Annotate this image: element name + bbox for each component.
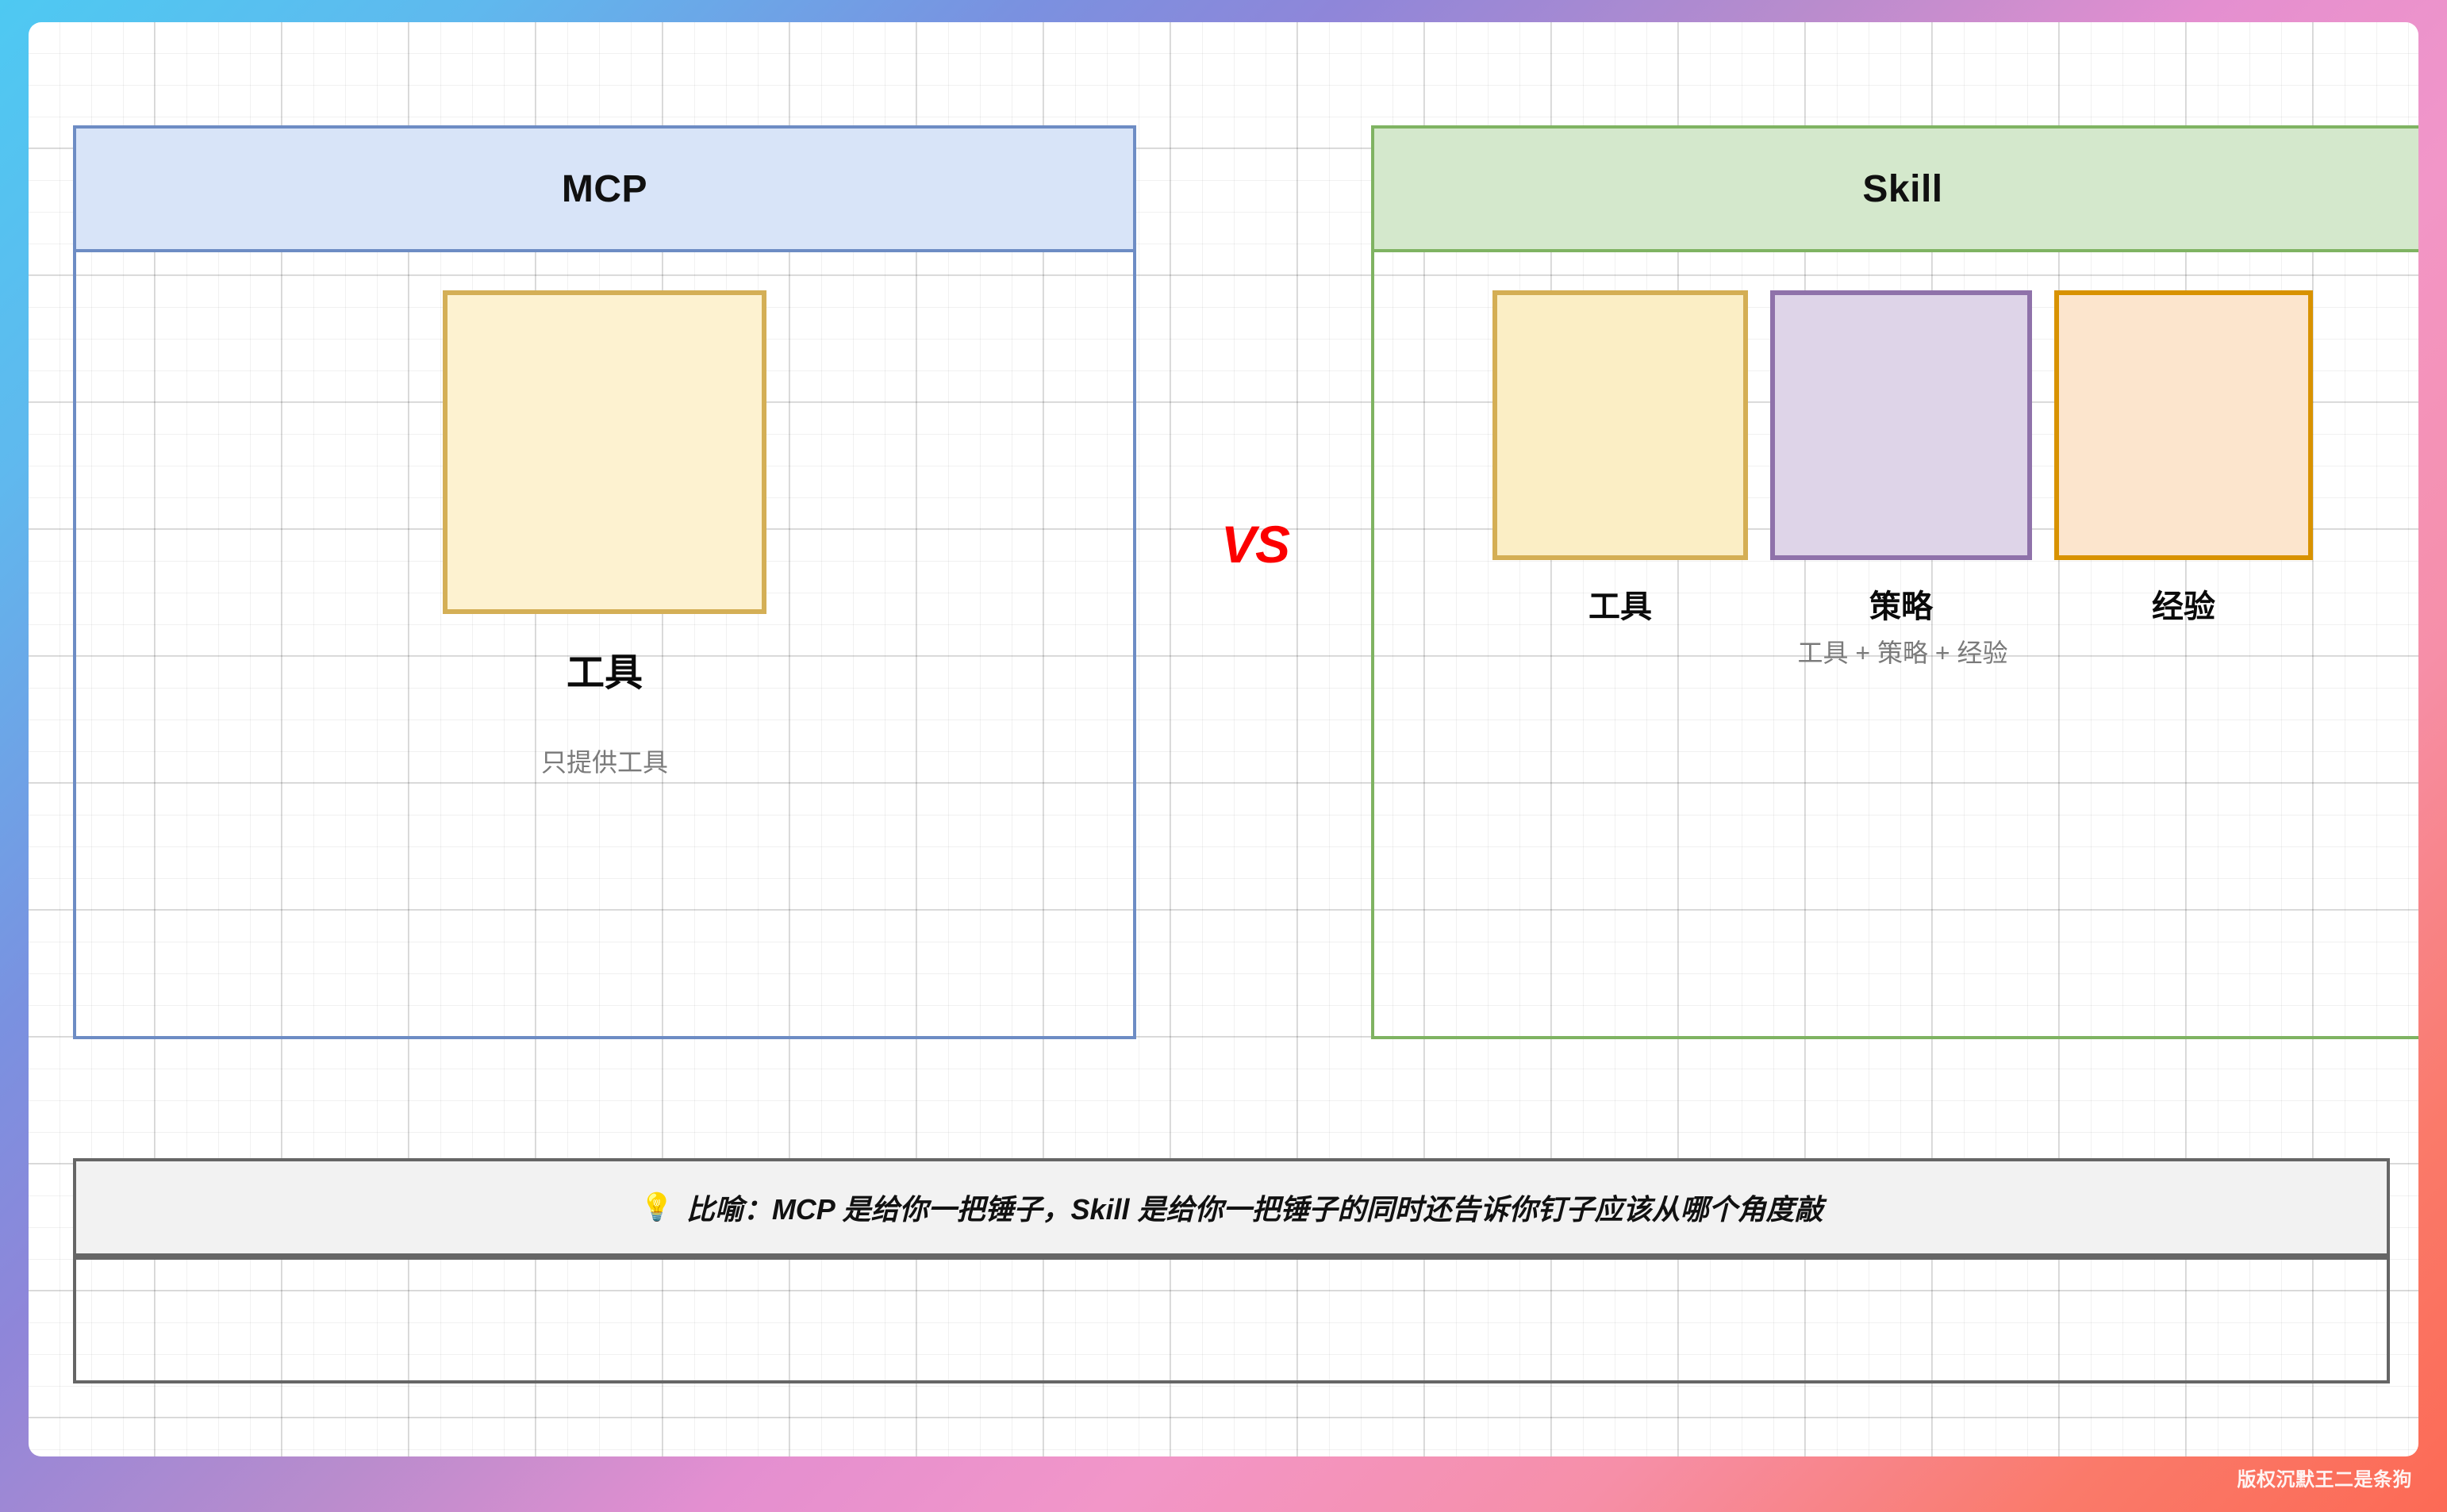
analogy-note-content: 💡 比喻：MCP 是给你一把锤子，Skill 是给你一把锤子的同时还告诉你钉子应…	[640, 1187, 1823, 1228]
analogy-note-text: 比喻：MCP 是给你一把锤子，Skill 是给你一把锤子的同时还告诉你钉子应该从…	[686, 1187, 1823, 1228]
slide-canvas: MCP 工具 只提供工具 VS Skill	[29, 22, 2418, 1456]
skill-box-row: 工具 策略 经验	[1374, 252, 2418, 627]
watermark: 版权沉默王二是条狗	[2238, 1464, 2413, 1491]
skill-experience-box	[2054, 290, 2313, 560]
mcp-box-item-tool: 工具	[443, 290, 766, 697]
analogy-note-box: 💡 比喻：MCP 是给你一把锤子，Skill 是给你一把锤子的同时还告诉你钉子应…	[73, 1158, 2390, 1257]
skill-panel-caption: 工具 + 策略 + 经验	[1374, 633, 2418, 670]
mcp-tool-box	[443, 290, 766, 614]
mcp-panel-body: 工具 只提供工具	[76, 252, 1133, 1036]
lightbulb-icon: 💡	[640, 1194, 673, 1221]
slide-content: MCP 工具 只提供工具 VS Skill	[29, 22, 2418, 1456]
mcp-tool-box-label: 工具	[567, 641, 643, 697]
mcp-box-row: 工具	[76, 252, 1133, 697]
empty-note-box	[73, 1257, 2390, 1383]
skill-tool-box	[1492, 290, 1748, 560]
skill-tool-box-label: 工具	[1588, 581, 1652, 627]
mcp-panel-caption: 只提供工具	[76, 743, 1133, 779]
versus-label: VS	[1192, 514, 1319, 574]
mcp-panel: MCP 工具 只提供工具	[73, 125, 1136, 1039]
skill-panel-header: Skill	[1371, 125, 2418, 252]
mcp-panel-header: MCP	[73, 125, 1136, 252]
skill-box-item-strategy: 策略	[1770, 290, 2032, 627]
skill-panel: Skill 工具 策略 经验	[1371, 125, 2418, 1039]
skill-box-item-experience: 经验	[2054, 290, 2313, 627]
skill-experience-box-label: 经验	[2152, 581, 2215, 627]
mcp-panel-title: MCP	[562, 167, 647, 211]
skill-panel-title: Skill	[1862, 167, 1942, 211]
skill-panel-body: 工具 策略 经验 工具 + 策略 + 经验	[1374, 252, 2418, 1036]
skill-strategy-box-label: 策略	[1869, 581, 1933, 627]
skill-strategy-box	[1770, 290, 2032, 560]
skill-box-item-tool: 工具	[1492, 290, 1748, 627]
